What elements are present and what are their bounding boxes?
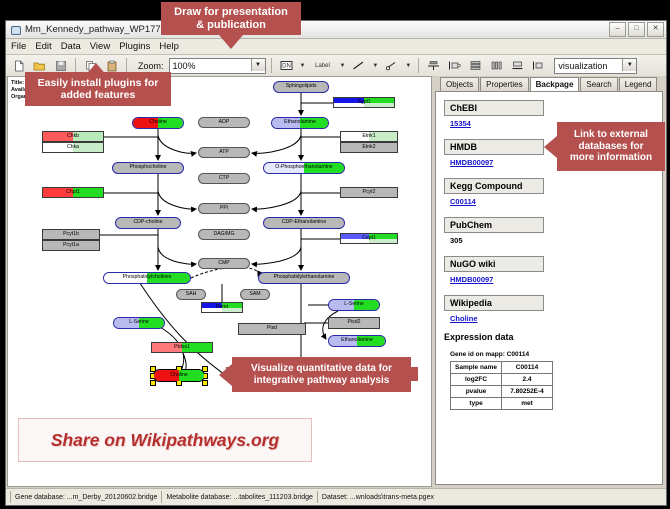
close-button[interactable]: ✕ bbox=[647, 22, 664, 37]
window-controls: – □ ✕ bbox=[609, 22, 664, 37]
expression-data-heading: Expression data bbox=[444, 332, 654, 342]
menu-bar: File Edit Data View Plugins Help bbox=[6, 39, 666, 55]
align-icon[interactable] bbox=[424, 56, 443, 75]
toolbar-separator-3 bbox=[271, 58, 272, 73]
status-metabolite-db: Metabolite database: ...tabolites_111203… bbox=[161, 491, 316, 503]
chevron-down-icon-line[interactable]: ▼ bbox=[372, 63, 378, 69]
node-pisd[interactable]: Pisd bbox=[238, 323, 306, 335]
anchor-icon[interactable] bbox=[382, 56, 401, 75]
stack-icon[interactable] bbox=[466, 56, 485, 75]
node-label: Pcyt2 bbox=[363, 190, 376, 195]
node-sam[interactable]: SAM bbox=[240, 289, 270, 300]
callout-visualize-tab-right bbox=[411, 367, 418, 381]
node-label: Pcyt1b bbox=[63, 232, 79, 237]
callout-plugins: Easily install plugins for added feature… bbox=[25, 72, 171, 106]
callout-external-arrow bbox=[544, 136, 557, 158]
section-header-pubchem: PubChem bbox=[444, 217, 544, 233]
share-banner: Share on Wikipathways.org bbox=[18, 418, 312, 462]
node-label: ATP bbox=[219, 150, 229, 155]
label-icon[interactable]: Label bbox=[309, 56, 335, 75]
kegg-link[interactable]: C00114 bbox=[450, 197, 654, 206]
node-label: Ethanolamine bbox=[341, 338, 373, 343]
node-ethanolamine-bottom[interactable]: Ethanolamine bbox=[328, 335, 386, 347]
menu-data[interactable]: Data bbox=[61, 41, 81, 52]
group-icon[interactable] bbox=[445, 56, 464, 75]
section-header-chebi: ChEBI bbox=[444, 100, 544, 116]
node-label: CMP bbox=[218, 261, 230, 266]
node-label: Phosphatidylethanolamine bbox=[274, 275, 335, 280]
callout-external: Link to external databases for more info… bbox=[557, 122, 665, 171]
section-header-kegg: Kegg Compound bbox=[444, 178, 544, 194]
node-phosphatidylcholines[interactable]: Phosphatidylcholines bbox=[103, 272, 191, 284]
node-label: Chkb bbox=[67, 134, 79, 139]
node-dag-mg[interactable]: DAG/MG bbox=[198, 229, 250, 240]
menu-plugins[interactable]: Plugins bbox=[119, 41, 150, 52]
node-etnk2[interactable]: Etnk2 bbox=[340, 142, 398, 153]
node-cdp-choline[interactable]: CDP-choline bbox=[115, 217, 181, 229]
node-label: PPi bbox=[220, 206, 228, 211]
node-cmp[interactable]: CMP bbox=[198, 258, 250, 269]
node-label: Phosphatidylcholines bbox=[123, 275, 172, 280]
node-chpt1[interactable]: Chpt1 bbox=[42, 187, 104, 198]
cell-label: log2FC bbox=[451, 374, 502, 386]
node-atp[interactable]: ATP bbox=[198, 147, 250, 158]
section-header-wikipedia: Wikipedia bbox=[444, 295, 544, 311]
node-chkb[interactable]: Chkb bbox=[42, 131, 104, 142]
callout-plugins-arrow bbox=[84, 63, 108, 77]
status-dataset: Dataset: ...wnloads\trans-meta.pgex bbox=[317, 491, 438, 503]
wikipedia-link[interactable]: Choline bbox=[450, 314, 654, 323]
node-label: Pisd bbox=[267, 326, 277, 331]
pubchem-value: 305 bbox=[450, 236, 654, 245]
callout-draw-arrow bbox=[219, 35, 243, 49]
datanode-icon[interactable]: DN bbox=[277, 56, 296, 75]
node-cept1[interactable]: Cept1 bbox=[340, 233, 398, 244]
tab-search[interactable]: Search bbox=[580, 77, 617, 91]
node-phosphatidylethanolamine[interactable]: Phosphatidylethanolamine bbox=[258, 272, 350, 284]
cell-value: C00114 bbox=[502, 362, 553, 374]
node-pisd2[interactable]: Pisd2 bbox=[328, 317, 380, 329]
node-cdp-ethanolamine[interactable]: CDP-Ethanolamine bbox=[263, 217, 345, 229]
chevron-down-icon-label[interactable]: ▼ bbox=[339, 63, 345, 69]
cell-label: type bbox=[451, 398, 502, 410]
node-pcyt2[interactable]: Pcyt2 bbox=[340, 187, 398, 198]
node-label: L-Serine bbox=[344, 302, 364, 307]
menu-file[interactable]: File bbox=[11, 41, 26, 52]
cell-value: 7.80252E-4 bbox=[502, 386, 553, 398]
node-sah[interactable]: SAH bbox=[176, 289, 206, 300]
chevron-down-icon-datanode[interactable]: ▼ bbox=[300, 63, 306, 69]
svg-text:DN: DN bbox=[282, 64, 291, 70]
node-label: Etnk1 bbox=[362, 134, 375, 139]
node-label: Pisd2 bbox=[348, 320, 361, 325]
node-label: Chka bbox=[67, 145, 79, 150]
section-header-nugo: NuGO wiki bbox=[444, 256, 544, 272]
node-pcyt1a[interactable]: Pcyt1a bbox=[42, 240, 100, 251]
screenshot-root: Mm_Kennedy_pathway_WP1771_45176.gpml – □… bbox=[0, 0, 670, 509]
node-sphingolipids[interactable]: Sphingolipids bbox=[273, 81, 329, 93]
node-choline-selected[interactable]: Choline bbox=[153, 369, 205, 382]
minimize-button[interactable]: – bbox=[609, 22, 626, 37]
menu-view[interactable]: View bbox=[90, 41, 110, 52]
title-bar: Mm_Kennedy_pathway_WP1771_45176.gpml – □… bbox=[6, 21, 666, 39]
node-l-serine-left[interactable]: L-Serine bbox=[113, 317, 165, 329]
nugo-link[interactable]: HMDB00097 bbox=[450, 275, 654, 284]
node-label: Choline bbox=[170, 373, 188, 378]
node-label: Cept1 bbox=[362, 236, 376, 241]
node-label: Ptdss1 bbox=[174, 345, 190, 350]
expression-table: Sample name C00114 log2FC 2.4 pvalue 7.8… bbox=[450, 361, 553, 410]
node-o-phosphoethanolamine[interactable]: O-Phosphoethanolamine bbox=[263, 162, 345, 174]
node-label: CDP-Ethanolamine bbox=[282, 220, 326, 225]
node-label: Sgpl1 bbox=[357, 100, 370, 105]
node-ethanolamine-top[interactable]: Ethanolamine bbox=[271, 117, 329, 129]
callout-visualize: Visualize quantitative data for integrat… bbox=[232, 357, 411, 392]
toolbar-separator bbox=[75, 58, 76, 73]
label-icon-text: Label bbox=[315, 63, 330, 69]
table-row: type met bbox=[451, 398, 553, 410]
node-chka[interactable]: Chka bbox=[42, 142, 104, 153]
node-label: DAG/MG bbox=[213, 232, 234, 237]
cell-value: 2.4 bbox=[502, 374, 553, 386]
chevron-down-icon[interactable]: ▼ bbox=[251, 59, 265, 71]
node-label: Sphingolipids bbox=[286, 84, 317, 89]
node-pemt[interactable]: Pemt bbox=[201, 302, 243, 313]
node-ppi[interactable]: PPi bbox=[198, 203, 250, 214]
callout-draw: Draw for presentation & publication bbox=[161, 2, 301, 35]
bring-icon[interactable] bbox=[529, 56, 548, 75]
order-icon[interactable] bbox=[508, 56, 527, 75]
zoom-value: 100% bbox=[173, 61, 196, 71]
share-banner-text: Share on Wikipathways.org bbox=[51, 430, 279, 451]
node-choline-top[interactable]: Choline bbox=[132, 117, 184, 129]
table-row: log2FC 2.4 bbox=[451, 374, 553, 386]
table-row: pvalue 7.80252E-4 bbox=[451, 386, 553, 398]
node-label: O-Phosphoethanolamine bbox=[275, 165, 332, 170]
section-header-hmdb: HMDB bbox=[444, 139, 544, 155]
menu-help[interactable]: Help bbox=[159, 41, 179, 52]
node-adp[interactable]: ADP bbox=[198, 117, 250, 128]
zoom-combobox[interactable]: 100% ▼ bbox=[169, 58, 266, 74]
node-label: CTP bbox=[219, 176, 229, 181]
toolbar-separator-4 bbox=[418, 58, 419, 73]
tab-legend[interactable]: Legend bbox=[619, 77, 658, 91]
cell-label: pvalue bbox=[451, 386, 502, 398]
tab-properties[interactable]: Properties bbox=[480, 77, 528, 91]
zoom-label: Zoom: bbox=[138, 61, 164, 71]
chevron-down-icon-visualization[interactable]: ▼ bbox=[622, 59, 636, 71]
menu-edit[interactable]: Edit bbox=[35, 41, 51, 52]
visualization-value: visualization bbox=[558, 61, 607, 71]
node-ptdss1[interactable]: Ptdss1 bbox=[151, 342, 213, 353]
node-label: SAH bbox=[186, 292, 197, 297]
node-label: Pemt bbox=[216, 305, 228, 310]
node-sgpl1[interactable]: Sgpl1 bbox=[333, 97, 395, 108]
node-label: Etnk2 bbox=[362, 145, 375, 150]
table-row: Sample name C00114 bbox=[451, 362, 553, 374]
node-label: Chpt1 bbox=[66, 190, 80, 195]
node-label: SAM bbox=[249, 292, 260, 297]
cell-label: Sample name bbox=[451, 362, 502, 374]
status-gene-db: Gene database: ...m_Derby_20120602.bridg… bbox=[10, 491, 161, 503]
node-label: Phosphocholine bbox=[130, 165, 167, 170]
node-etnk1[interactable]: Etnk1 bbox=[340, 131, 398, 142]
node-label: Pcyt1a bbox=[63, 243, 79, 248]
node-label: CDP-choline bbox=[133, 220, 162, 225]
node-ctp[interactable]: CTP bbox=[198, 173, 250, 184]
tab-objects[interactable]: Objects bbox=[440, 77, 479, 91]
node-pcyt1b[interactable]: Pcyt1b bbox=[42, 229, 100, 240]
node-phosphocholine[interactable]: Phosphocholine bbox=[112, 162, 184, 174]
node-label: ADP bbox=[219, 120, 230, 125]
app-icon bbox=[10, 24, 21, 35]
callout-visualize-arrow bbox=[219, 364, 232, 386]
maximize-button[interactable]: □ bbox=[628, 22, 645, 37]
node-label: Ethanolamine bbox=[284, 120, 316, 125]
node-label: Choline bbox=[149, 120, 167, 125]
cell-value: met bbox=[502, 398, 553, 410]
chevron-down-icon-anchor[interactable]: ▼ bbox=[405, 63, 411, 69]
node-label: L-Serine bbox=[129, 320, 149, 325]
visualization-combobox[interactable]: visualization ▼ bbox=[554, 58, 637, 74]
toolbar-separator-2 bbox=[126, 58, 127, 73]
side-panel-tabs: Objects Properties Backpage Search Legen… bbox=[433, 76, 665, 91]
gene-id-line: Gene id on mapp: C00114 bbox=[450, 351, 654, 358]
distribute-icon[interactable] bbox=[487, 56, 506, 75]
line-icon[interactable] bbox=[349, 56, 368, 75]
status-bar: Gene database: ...m_Derby_20120602.bridg… bbox=[6, 488, 666, 505]
node-l-serine-right[interactable]: L-Serine bbox=[328, 299, 380, 311]
tab-backpage[interactable]: Backpage bbox=[530, 77, 580, 92]
